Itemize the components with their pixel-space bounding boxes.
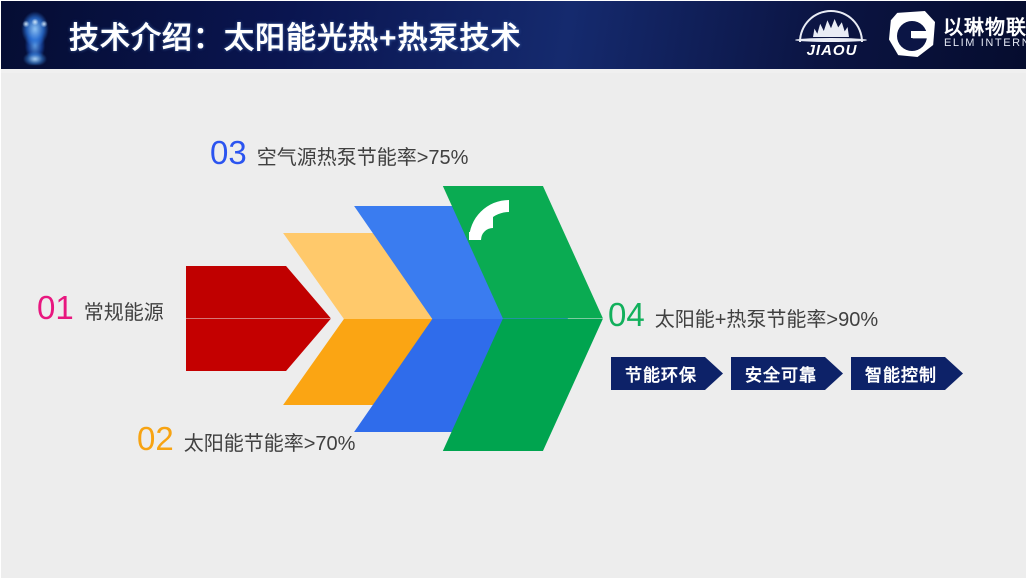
step-number-02: 02 [137, 420, 174, 458]
jiaou-logo: JIAOU [789, 10, 875, 60]
step-number-04: 04 [608, 296, 645, 334]
step-label-01: 01 常规能源 [37, 289, 164, 327]
step-label-04: 04 太阳能+热泵节能率>90% [608, 296, 878, 334]
step-text-03: 空气源热泵节能率>75% [257, 141, 469, 170]
page-title: 技术介绍：太阳能光热+热泵技术 [69, 13, 522, 57]
fist-knuckles [21, 16, 49, 32]
arrow-green-bottom [421, 319, 603, 452]
step-number-03: 03 [210, 134, 247, 172]
badge-safe-reliable: 安全可靠 [731, 357, 843, 390]
badge-smart-control: 智能控制 [851, 357, 963, 390]
slide-header: 技术介绍：太阳能光热+热泵技术 JIAOU 以琳物联 ELIM INTERNET [1, 1, 1027, 69]
elim-g-bar [911, 31, 927, 38]
step-number-01: 01 [37, 289, 74, 327]
step-text-04: 太阳能+热泵节能率>90% [655, 303, 878, 332]
fist-icon [9, 3, 61, 69]
wifi-signal-icon [463, 194, 521, 246]
elim-logo-text-en: ELIM INTERNET [944, 37, 1027, 49]
step-label-02: 02 太阳能节能率>70% [137, 420, 355, 458]
step-text-01: 常规能源 [84, 296, 164, 325]
step-label-03: 03 空气源热泵节能率>75% [210, 134, 468, 172]
elim-logo: 以琳物联 ELIM INTERNET [889, 9, 1019, 61]
feature-badge-group: 节能环保 安全可靠 智能控制 [611, 357, 963, 390]
elim-g-mark-icon [889, 11, 935, 57]
header-underline [1, 69, 1027, 73]
elim-logo-text-cn: 以琳物联 [943, 11, 1027, 40]
badge-energy-saving: 节能环保 [611, 357, 723, 390]
step-text-02: 太阳能节能率>70% [184, 427, 356, 456]
slide-canvas: 技术介绍：太阳能光热+热泵技术 JIAOU 以琳物联 ELIM INTERNET [0, 0, 1027, 579]
jiaou-logo-text: JIAOU [789, 42, 875, 59]
